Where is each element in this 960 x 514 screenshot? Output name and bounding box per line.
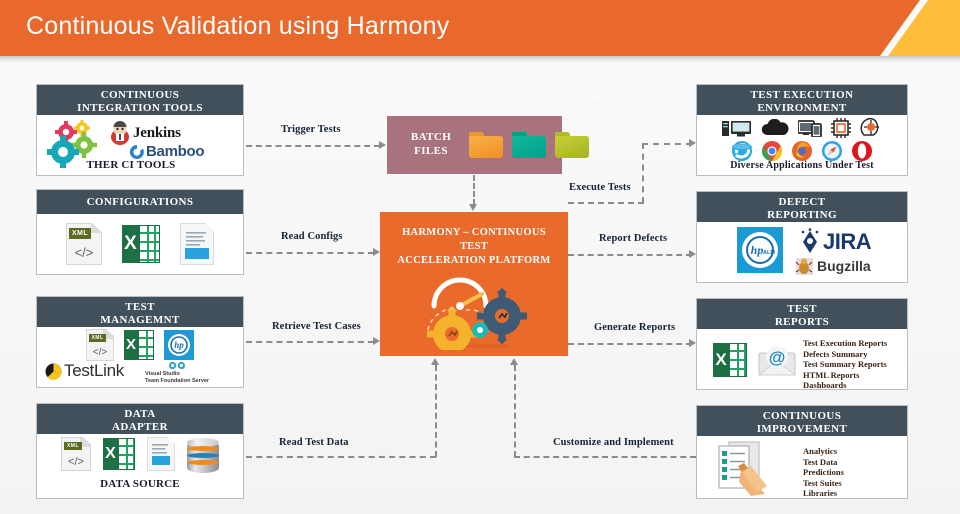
connector-label-read-configs: Read Configs bbox=[281, 231, 343, 242]
connector-read-test-data bbox=[246, 456, 436, 458]
speedometer-gears-icon bbox=[410, 258, 560, 350]
batch-files-box[interactable]: BATCH FILES bbox=[387, 116, 562, 174]
visual-studio-tfs-logo: Visual Studio Team Foundation Server bbox=[145, 360, 209, 384]
panel-title-line2: MANAGEMNT bbox=[39, 314, 241, 327]
jenkins-logo: Jenkins bbox=[109, 121, 181, 145]
panel-title-line2: REPORTS bbox=[699, 316, 905, 329]
tm-icon-row: XML </> X hp bbox=[37, 327, 243, 361]
panel-header: CONTINUOUS INTEGRATION TOOLS bbox=[37, 85, 243, 115]
folder-body bbox=[469, 136, 503, 158]
excel-icon: X bbox=[124, 330, 154, 360]
excel-grid bbox=[139, 225, 160, 263]
panel-title-line1: DEFECT bbox=[699, 196, 905, 209]
excel-grid bbox=[118, 438, 135, 470]
cloud-icon bbox=[760, 119, 790, 137]
panel-configurations[interactable]: CONFIGURATIONS XML </> X bbox=[36, 189, 244, 275]
excel-x-letter: X bbox=[124, 330, 138, 360]
svg-text:hp: hp bbox=[751, 243, 764, 257]
jira-mark-icon bbox=[797, 228, 823, 256]
arrow-report-defects bbox=[689, 250, 696, 258]
panel-title-line2: ENVIRONMENT bbox=[699, 102, 905, 115]
panel-title-line1: TEST EXECUTION bbox=[699, 89, 905, 102]
test-reports-list: Test Execution Reports Defects Summary T… bbox=[803, 338, 887, 391]
connector-read-test-data-riser bbox=[435, 365, 437, 457]
jenkins-label: Jenkins bbox=[133, 125, 181, 142]
browser-icon-row bbox=[697, 138, 907, 162]
batch-label-line2: FILES bbox=[399, 144, 463, 158]
da-icon-row: XML </> X bbox=[37, 434, 243, 471]
xml-file-icon: XML </> bbox=[61, 437, 91, 471]
connector-execute-tests bbox=[568, 202, 644, 204]
arrow-read-test-data bbox=[431, 358, 439, 365]
panel-body: XML </> X hp bbox=[37, 327, 243, 387]
excel-icon: X bbox=[122, 225, 160, 263]
database-icon bbox=[187, 437, 219, 471]
panel-header: TEST MANAGEMNT bbox=[37, 297, 243, 327]
connector-label-trigger-tests: Trigger Tests bbox=[281, 124, 341, 135]
data-source-caption: DATA SOURCE bbox=[37, 478, 243, 490]
device-icon-row bbox=[697, 115, 907, 138]
hp-alm-logo: hp ALM bbox=[737, 227, 783, 273]
arrow-batch-to-harmony bbox=[469, 204, 477, 211]
hp-alm-mark-icon: hp ALM bbox=[741, 231, 779, 269]
panel-test-reports[interactable]: TEST REPORTS X @ Test Execution Reports … bbox=[696, 298, 908, 390]
page-fold bbox=[91, 224, 101, 233]
testlink-mark-icon bbox=[45, 363, 62, 380]
list-item: Defects Summary bbox=[803, 349, 887, 360]
harmony-title-line1: HARMONY – CONTINUOUS TEST bbox=[388, 226, 560, 254]
connector-generate-reports bbox=[568, 343, 692, 345]
list-item: Test Suites bbox=[803, 478, 844, 489]
panel-title-line1: CONFIGURATIONS bbox=[39, 196, 241, 209]
panel-body: X @ Test Execution Reports Defects Summa… bbox=[697, 329, 907, 389]
excel-x-letter: X bbox=[103, 438, 118, 470]
list-item: Libraries bbox=[803, 488, 844, 499]
connector-customize-riser bbox=[514, 365, 516, 457]
list-item: Predictions bbox=[803, 467, 844, 478]
arrow-trigger-tests bbox=[379, 141, 386, 149]
arrow-customize-and-implement bbox=[510, 358, 518, 365]
panel-title-line2: IMPROVEMENT bbox=[699, 423, 905, 436]
document-blue-bar bbox=[185, 248, 209, 259]
excel-x-letter: X bbox=[122, 225, 139, 263]
panel-title-line2: INTEGRATION TOOLS bbox=[39, 102, 241, 115]
list-item: HTML Reports bbox=[803, 370, 887, 381]
panel-defect-reporting[interactable]: DEFECT REPORTING hp ALM bbox=[696, 191, 908, 283]
panel-body: Diverse Applications Under Test bbox=[697, 115, 907, 175]
connector-trigger-tests bbox=[246, 145, 380, 147]
panel-test-management[interactable]: TEST MANAGEMNT XML </> X hp bbox=[36, 296, 244, 388]
test-environment-caption: Diverse Applications Under Test bbox=[697, 160, 907, 171]
svg-text:hp: hp bbox=[174, 340, 184, 350]
code-brackets: </> bbox=[87, 347, 113, 358]
panel-test-execution-environment[interactable]: TEST EXECUTION ENVIRONMENT bbox=[696, 84, 908, 176]
tfs-infinity-icon bbox=[167, 360, 187, 371]
panel-title-line1: CONTINUOUS bbox=[39, 89, 241, 102]
slide-canvas: Continuous Validation using Harmony CONT… bbox=[0, 0, 960, 514]
email-icon: @ bbox=[757, 345, 797, 377]
panel-title-line1: DATA bbox=[39, 408, 241, 421]
ci-tools-caption: THER CI TOOLS bbox=[71, 159, 191, 171]
panel-body: hp ALM JIRA bbox=[697, 222, 907, 282]
connector-execute-tests-top bbox=[642, 143, 692, 145]
panel-continuous-improvement[interactable]: CONTINUOUS IMPROVEMENT Analytics bbox=[696, 405, 908, 499]
db-stripe bbox=[187, 460, 219, 465]
code-brackets: </> bbox=[62, 456, 90, 468]
slide-header: Continuous Validation using Harmony bbox=[0, 0, 960, 56]
hp-alm-mark-icon: hp bbox=[167, 333, 191, 357]
testlink-logo: TestLink bbox=[45, 361, 124, 381]
excel-x-letter: X bbox=[713, 343, 729, 377]
jenkins-butler-icon bbox=[109, 121, 131, 145]
safari-icon bbox=[821, 140, 843, 162]
panel-title-line2: ADAPTER bbox=[39, 421, 241, 434]
arrow-retrieve-test-cases bbox=[373, 337, 380, 345]
panel-title-line2: REPORTING bbox=[699, 209, 905, 222]
folder-olive-icon bbox=[555, 132, 589, 158]
bamboo-mark-icon bbox=[129, 144, 145, 160]
panel-header: CONTINUOUS IMPROVEMENT bbox=[697, 406, 907, 436]
hp-alm-logo: hp bbox=[164, 330, 194, 360]
list-item: Test Execution Reports bbox=[803, 338, 887, 349]
list-item: Analytics bbox=[803, 446, 844, 457]
responsive-devices-icon bbox=[798, 119, 822, 137]
bugzilla-logo: Bugzilla bbox=[795, 256, 871, 276]
list-item: Test Data bbox=[803, 457, 844, 468]
panel-header: DATA ADAPTER bbox=[37, 404, 243, 434]
bamboo-label: Bamboo bbox=[146, 143, 204, 160]
xml-tag-label: XML bbox=[69, 228, 91, 239]
arrow-generate-reports bbox=[689, 339, 696, 347]
connector-retrieve-test-cases bbox=[246, 341, 374, 343]
page-title: Continuous Validation using Harmony bbox=[26, 12, 449, 41]
chip-icon bbox=[830, 118, 852, 138]
bamboo-logo: Bamboo bbox=[129, 143, 204, 160]
panel-body: XML </> X bbox=[37, 214, 243, 274]
panel-body: Jenkins Bamboo THER CI TOOLS bbox=[37, 115, 243, 175]
panel-continuous-integration-tools[interactable]: CONTINUOUS INTEGRATION TOOLS bbox=[36, 84, 244, 176]
testlink-label: TestLink bbox=[64, 361, 124, 381]
xml-file-icon: XML </> bbox=[66, 223, 102, 265]
connector-label-execute-tests: Execute Tests bbox=[569, 182, 631, 193]
connector-label-generate-reports: Generate Reports bbox=[594, 322, 675, 333]
connector-label-retrieve-test-cases: Retrieve Test Cases bbox=[272, 321, 361, 332]
xml-file-icon: XML </> bbox=[86, 329, 114, 361]
tfs-label-line2: Team Foundation Server bbox=[145, 378, 209, 385]
connector-label-read-test-data: Read Test Data bbox=[279, 437, 349, 448]
panel-header: DEFECT REPORTING bbox=[697, 192, 907, 222]
db-stripe bbox=[187, 446, 219, 451]
connector-batch-to-harmony bbox=[473, 175, 475, 205]
connector-label-customize-and-implement: Customize and Implement bbox=[553, 437, 674, 448]
panel-title-line1: TEST bbox=[699, 303, 905, 316]
document-lines bbox=[152, 444, 168, 455]
batch-label-line1: BATCH bbox=[399, 130, 463, 144]
excel-grid bbox=[138, 330, 154, 360]
panel-header: TEST REPORTS bbox=[697, 299, 907, 329]
harmony-platform-box[interactable]: HARMONY – CONTINUOUS TEST ACCELERATION P… bbox=[380, 212, 568, 356]
header-shadow bbox=[0, 56, 960, 63]
folder-orange-icon bbox=[469, 132, 503, 158]
panel-header: TEST EXECUTION ENVIRONMENT bbox=[697, 85, 907, 115]
bugzilla-mark-icon bbox=[795, 256, 815, 276]
panel-body: XML </> X DATA S bbox=[37, 434, 243, 498]
arrow-read-configs bbox=[373, 248, 380, 256]
panel-body: Analytics Test Data Predictions Test Sui… bbox=[697, 436, 907, 498]
connector-read-configs bbox=[246, 252, 374, 254]
connector-customize-and-implement bbox=[514, 456, 696, 458]
batch-folders bbox=[469, 132, 589, 158]
folder-body bbox=[512, 136, 546, 158]
folder-teal-icon bbox=[512, 132, 546, 158]
batch-files-label: BATCH FILES bbox=[399, 130, 463, 158]
document-blue-bar bbox=[152, 456, 170, 465]
checklist-hand-icon bbox=[711, 440, 777, 496]
chrome-icon bbox=[761, 140, 783, 162]
xml-tag-label: XML bbox=[64, 442, 82, 450]
jira-logo: JIRA bbox=[797, 228, 871, 256]
db-stripe bbox=[187, 453, 219, 458]
connector-report-defects bbox=[568, 254, 692, 256]
iot-icon bbox=[860, 118, 882, 138]
connector-label-report-defects: Report Defects bbox=[599, 233, 667, 244]
panel-title-line1: TEST bbox=[39, 301, 241, 314]
document-lines bbox=[186, 232, 206, 246]
opera-icon bbox=[851, 140, 873, 162]
list-item: Dashboards bbox=[803, 380, 887, 391]
document-icon bbox=[147, 437, 175, 471]
svg-text:@: @ bbox=[769, 348, 786, 367]
folder-body bbox=[555, 136, 589, 158]
continuous-improvement-list: Analytics Test Data Predictions Test Sui… bbox=[803, 446, 844, 499]
panel-data-adapter[interactable]: DATA ADAPTER XML </> X bbox=[36, 403, 244, 499]
bugzilla-label: Bugzilla bbox=[817, 258, 871, 274]
jira-label: JIRA bbox=[823, 229, 871, 255]
desktop-icon bbox=[722, 120, 752, 137]
list-item: Test Summary Reports bbox=[803, 359, 887, 370]
panel-title-line1: CONTINUOUS bbox=[699, 410, 905, 423]
excel-icon: X bbox=[103, 438, 135, 470]
xml-tag-label: XML bbox=[89, 334, 106, 342]
hp-alm-label: ALM bbox=[763, 250, 775, 256]
document-icon bbox=[180, 223, 214, 265]
excel-grid bbox=[729, 343, 747, 377]
excel-icon: X bbox=[713, 343, 747, 377]
panel-header: CONFIGURATIONS bbox=[37, 190, 243, 214]
firefox-icon bbox=[791, 140, 813, 162]
code-brackets: </> bbox=[67, 245, 101, 260]
connector-execute-tests-riser bbox=[642, 143, 644, 203]
internet-explorer-icon bbox=[731, 140, 753, 162]
